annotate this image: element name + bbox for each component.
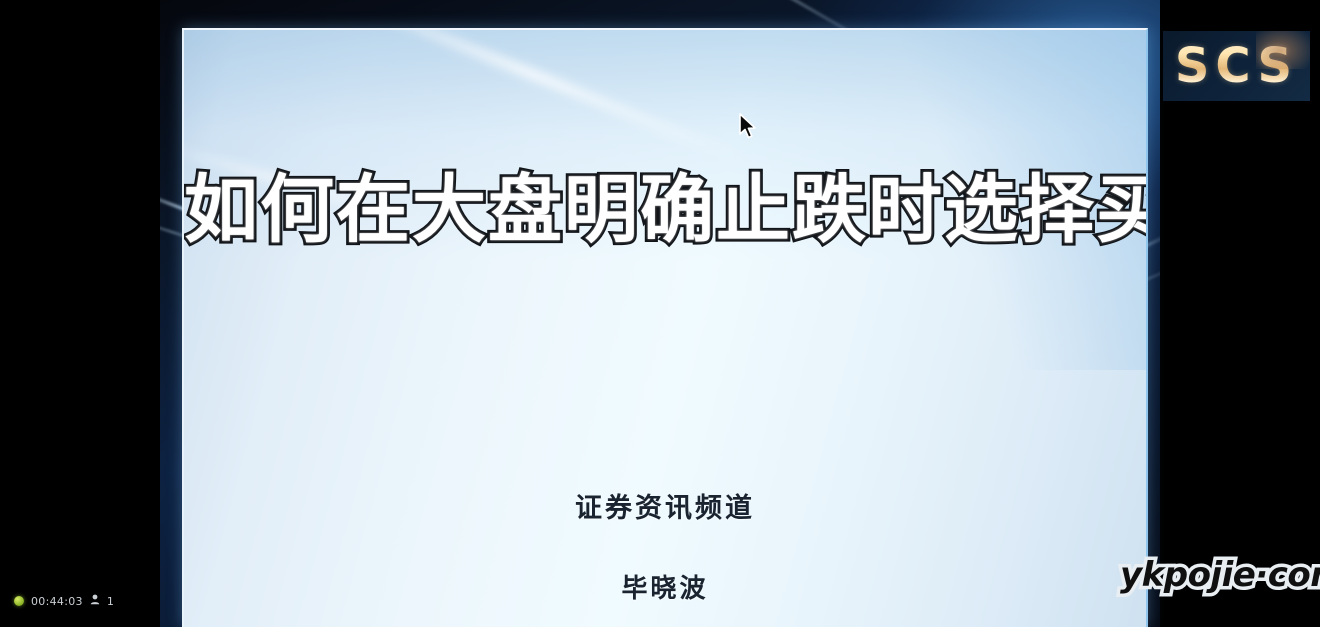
screen-capture-frame: 如何在大盘明确止跌时选择买点 证券资讯频道 毕晓波 SCS ykpojie·co…: [0, 0, 1320, 627]
recording-status-bar: 00:44:03 1: [14, 594, 114, 608]
site-watermark: ykpojie·com: [1120, 555, 1320, 595]
slide-sheen-upper: [319, 28, 749, 166]
elapsed-time-label: 00:44:03: [31, 595, 83, 608]
presentation-slide[interactable]: 如何在大盘明确止跌时选择买点 证券资讯频道 毕晓波: [182, 28, 1148, 627]
participant-count-label: 1: [107, 595, 114, 608]
recording-indicator-icon: [14, 596, 24, 606]
slide-presenter-name: 毕晓波: [184, 568, 1146, 605]
slide-title: 如何在大盘明确止跌时选择买点: [184, 172, 1146, 250]
participants-icon: [90, 594, 100, 608]
letterbox-left: [0, 0, 160, 627]
station-logo: SCS: [1163, 31, 1310, 101]
logo-smudge: [1256, 31, 1310, 69]
slide-subtitle-channel: 证券资讯频道: [184, 486, 1146, 525]
